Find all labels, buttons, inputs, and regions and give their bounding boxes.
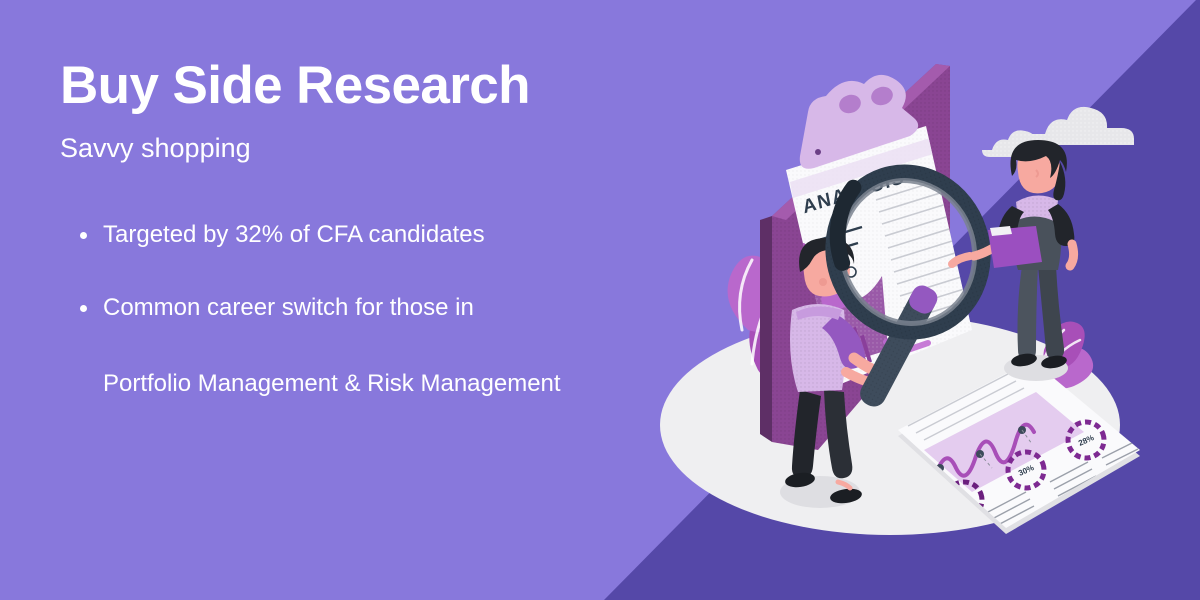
analysis-research-illustration: ANALYSIS [640, 30, 1200, 590]
text-column: Buy Side Research Savvy shopping Targete… [60, 58, 660, 441]
list-item: Targeted by 32% of CFA candidates [60, 219, 660, 251]
bullet-list: Targeted by 32% of CFA candidates Common… [60, 219, 660, 400]
list-item: Common career switch for those in [60, 292, 660, 324]
page-subtitle: Savvy shopping [60, 134, 660, 164]
cloud-large [1031, 107, 1134, 145]
page-title: Buy Side Research [60, 58, 660, 114]
list-item: Portfolio Management & Risk Management [60, 368, 660, 400]
held-clipboard [988, 226, 1042, 268]
slide-canvas: Buy Side Research Savvy shopping Targete… [0, 0, 1200, 600]
